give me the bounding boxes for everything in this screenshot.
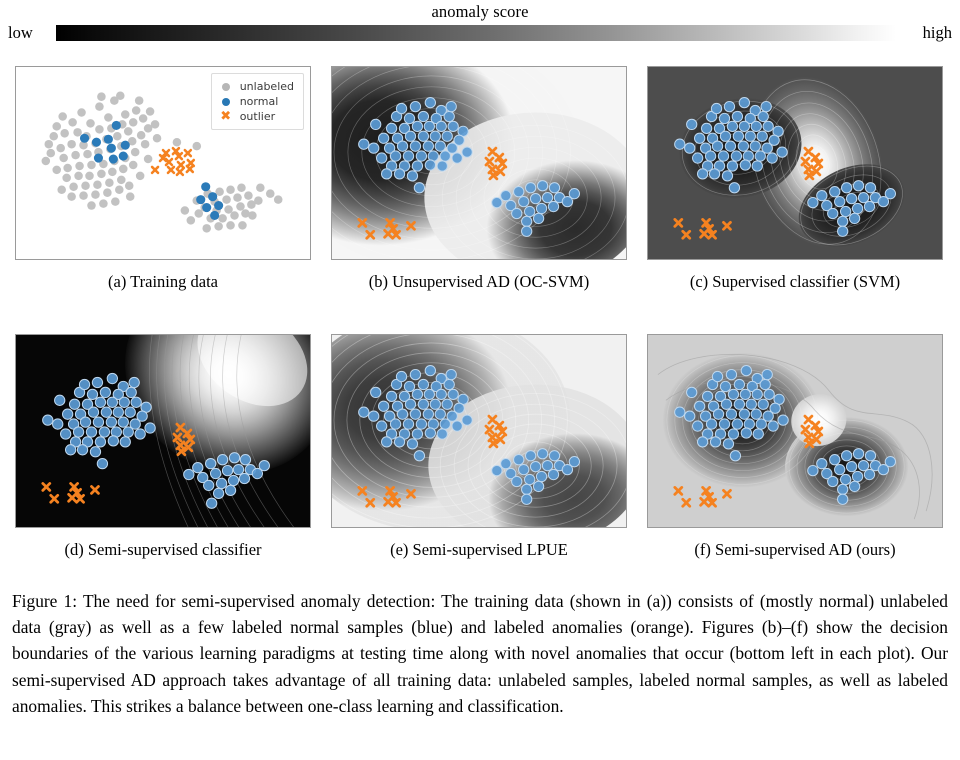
colorbar-low-label: low: [8, 23, 33, 43]
panel-b: [331, 66, 627, 260]
legend-item-outlier: ✖ outlier: [218, 109, 294, 124]
panel-f-caption: (f) Semi-supervised AD (ours): [607, 540, 960, 560]
circle-icon: [218, 94, 234, 109]
panel-e-contours: [332, 335, 626, 527]
colorbar-high-label: high: [923, 23, 952, 43]
panel-a-wrapper: unlabeled normal ✖ outlier (a) Training …: [15, 66, 311, 260]
panel-d-contours: [16, 335, 310, 527]
colorbar-gradient: [56, 25, 896, 41]
figure-caption: Figure 1: The need for semi-supervised a…: [12, 588, 948, 719]
figure-caption-label: Figure 1:: [12, 591, 77, 611]
panel-d: [15, 334, 311, 528]
figure-caption-text: The need for semi-supervised anomaly det…: [12, 591, 948, 716]
legend: unlabeled normal ✖ outlier: [211, 73, 304, 130]
panel-a: unlabeled normal ✖ outlier: [15, 66, 311, 260]
legend-label-unlabeled: unlabeled: [240, 79, 294, 94]
x-icon: ✖: [218, 109, 234, 125]
panel-c-caption: (c) Supervised classifier (SVM): [607, 272, 960, 292]
panel-b-wrapper: (b) Unsupervised AD (OC-SVM): [331, 66, 627, 260]
legend-item-normal: normal: [218, 94, 294, 109]
panel-b-contours: [332, 67, 626, 259]
panel-f-contours: [648, 335, 942, 527]
panel-e: [331, 334, 627, 528]
outlier-points: [152, 148, 194, 175]
panel-d-wrapper: (d) Semi-supervised classifier: [15, 334, 311, 528]
circle-icon: [218, 79, 234, 94]
panel-f-wrapper: (f) Semi-supervised AD (ours): [647, 334, 943, 528]
colorbar: anomaly score low high: [0, 0, 960, 52]
legend-label-outlier: outlier: [240, 109, 275, 124]
panel-e-wrapper: (e) Semi-supervised LPUE: [331, 334, 627, 528]
panel-c-wrapper: (c) Supervised classifier (SVM): [647, 66, 943, 260]
colorbar-title: anomaly score: [0, 2, 960, 22]
panel-c: [647, 66, 943, 260]
panel-f: [647, 334, 943, 528]
legend-label-normal: normal: [240, 94, 279, 109]
panel-c-contours: [648, 67, 942, 259]
legend-item-unlabeled: unlabeled: [218, 79, 294, 94]
